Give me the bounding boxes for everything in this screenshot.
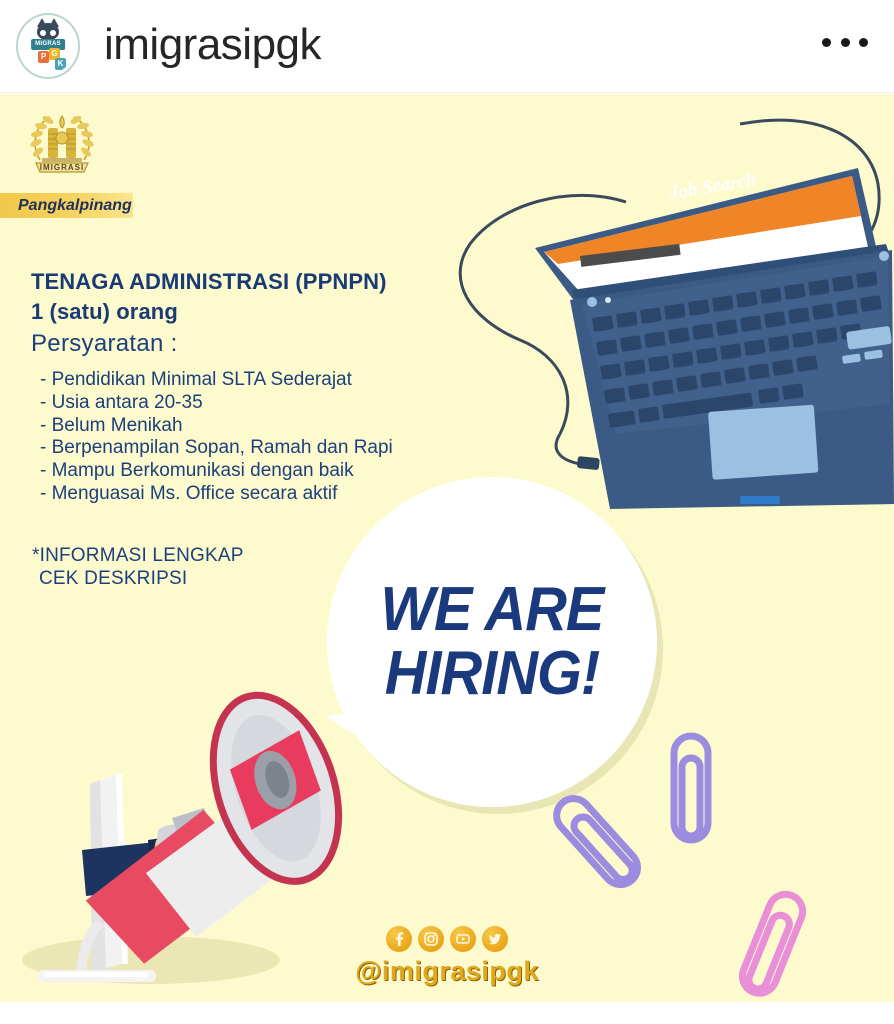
list-item: - Pendidikan Minimal SLTA Sederajat <box>40 369 393 392</box>
city-label-badge: Pangkalpinang <box>0 193 133 218</box>
avatar-block-k: K <box>55 58 66 70</box>
dot-1-icon <box>822 38 831 47</box>
headline-line-2: 1 (satu) orang <box>31 297 451 327</box>
dot-2-icon <box>841 38 850 47</box>
social-links <box>0 926 894 952</box>
account-username[interactable]: imigrasipgk <box>104 16 321 74</box>
list-item: - Berpenampilan Sopan, Ramah dan Rapi <box>40 437 393 460</box>
mascot-eye-left-icon <box>40 30 46 36</box>
hiring-line-1: WE ARE <box>381 578 604 642</box>
instagram-icon[interactable] <box>418 926 444 952</box>
list-item: - Usia antara 20-35 <box>40 392 393 415</box>
more-options-button[interactable] <box>822 32 868 52</box>
svg-text:IMIGRASI: IMIGRASI <box>40 163 84 172</box>
info-note-line-2: CEK DESKRIPSI <box>32 567 244 590</box>
dot-3-icon <box>859 38 868 47</box>
info-note: *INFORMASI LENGKAP CEK DESKRIPSI <box>32 544 244 590</box>
requirements-title: Persyaratan : <box>31 330 178 358</box>
youtube-icon[interactable] <box>450 926 476 952</box>
city-label-text: Pangkalpinang <box>0 197 132 215</box>
info-note-line-1: *INFORMASI LENGKAP <box>32 544 244 567</box>
mascot-eye-right-icon <box>50 30 56 36</box>
avatar[interactable]: MIGRAS P G K <box>16 13 80 79</box>
mascot-ear-left-icon <box>37 18 47 27</box>
page-title: TENAGA ADMINISTRASI (PPNPN) 1 (satu) ora… <box>31 267 451 327</box>
avatar-image: MIGRAS P G K <box>21 18 75 74</box>
mascot-icon <box>37 23 59 40</box>
twitter-icon[interactable] <box>482 926 508 952</box>
imigrasi-emblem-icon: IMIGRASI <box>24 108 100 184</box>
avatar-block-p: P <box>38 51 49 63</box>
hiring-line-2: HIRING! <box>385 642 600 706</box>
headline-line-1: TENAGA ADMINISTRASI (PPNPN) <box>31 267 451 297</box>
list-item: - Belum Menikah <box>40 415 393 438</box>
footer-handle: @imigrasipgk <box>0 956 894 987</box>
mascot-ear-right-icon <box>49 18 59 27</box>
instagram-header: MIGRAS P G K imigrasipgk <box>0 0 894 93</box>
post-image[interactable]: IMIGRASI Pangkalpinang Job Search <box>0 94 894 1002</box>
laptop-illustration: Job Search <box>440 104 894 514</box>
facebook-icon[interactable] <box>386 926 412 952</box>
